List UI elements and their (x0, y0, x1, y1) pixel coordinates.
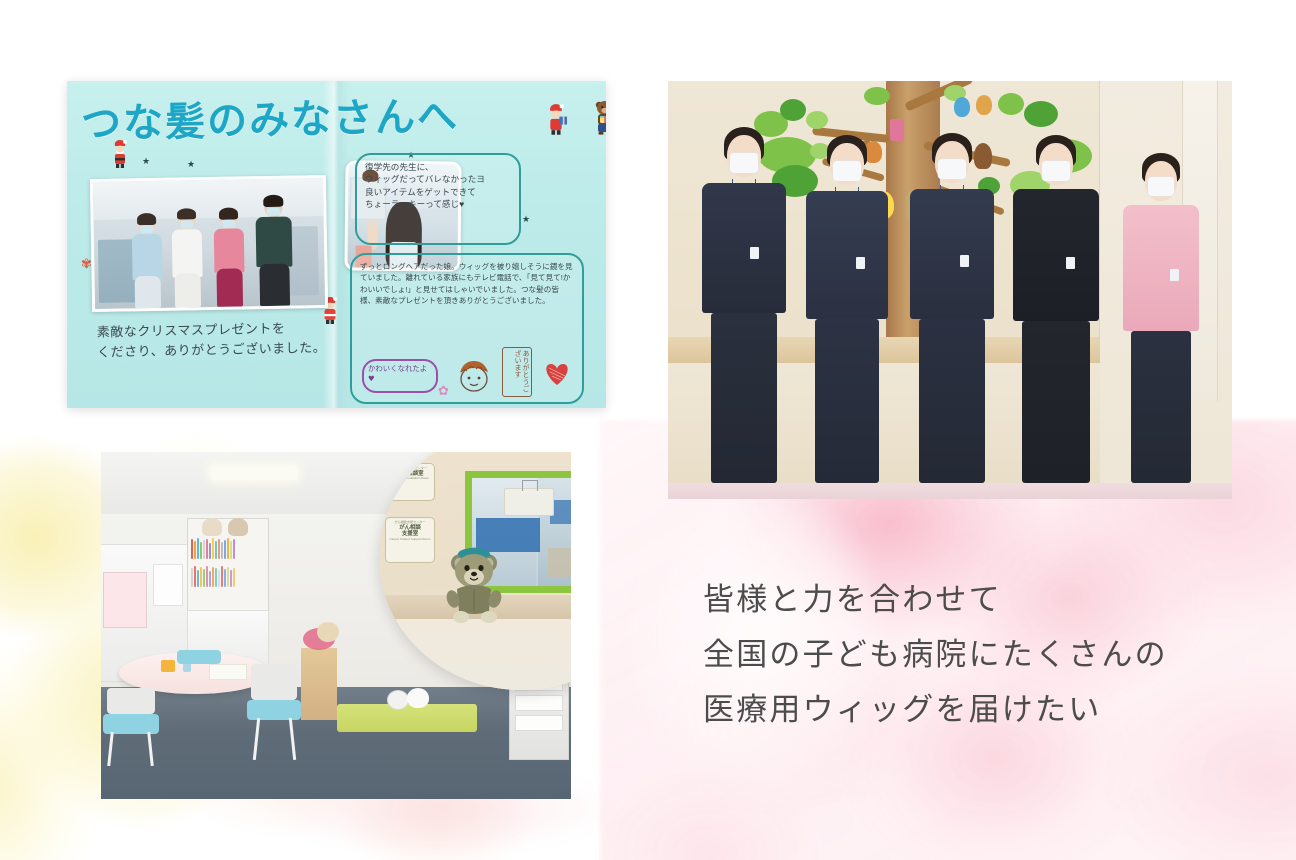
bear-sticker (592, 99, 606, 135)
star-sticker: ★ (522, 214, 530, 225)
thank-you-card-photo: つな髪のみなさんへ (67, 81, 606, 408)
sign-2-title: がん相談 支援室 (388, 525, 432, 539)
flower-doodle-icon: ✿ (438, 383, 449, 399)
chair (177, 638, 223, 678)
headline-text: 皆様と力を合わせて 全国の子ども病院にたくさんの 医療用ウィッグを届けたい (703, 573, 1263, 739)
white-plush-toy (407, 688, 429, 708)
staff-member (698, 127, 790, 483)
display-podium (301, 648, 337, 720)
floor (668, 483, 1232, 499)
card-title: つな髪のみなさんへ (80, 83, 511, 154)
consultation-room-photo: がんゲノム医療センター 看護相談室 Nursing Consultation R… (101, 452, 571, 799)
ceiling-light (211, 466, 297, 480)
play-mat (337, 704, 477, 732)
headline-line-3: 医療用ウィッグを届けたい (703, 683, 1263, 738)
headline-line-1: 皆様と力を合わせて (703, 573, 1263, 628)
book-shelf (187, 518, 269, 612)
card-thanks-text: 素敵なクリスマスプレゼントを くださり、ありがとうございました。 (97, 318, 348, 364)
headline-line-2: 全国の子ども病院にたくさんの (703, 628, 1263, 683)
card-speech-bubble-top: 復学先の先生に、 ウィッグだってバレなかったヨ 良いアイテムをゲットできて ちょ… (355, 153, 521, 245)
staff-member (906, 133, 998, 483)
sign-nursing-consultation: がんゲノム医療センター 看護相談室 Nursing Consultation R… (385, 463, 435, 501)
wall-calendar (103, 572, 147, 628)
nurses-group-photo (668, 81, 1232, 499)
tissue-box (161, 660, 175, 672)
staff-member (802, 135, 892, 483)
soccer-ball-toy (387, 690, 409, 710)
card-mini-bubble: かわいくなれたよ♥ (362, 359, 438, 393)
chair (247, 664, 303, 760)
card-speech-bubble-bottom: ずっとロングヘアだった娘。ウィッグを被り嬉しそうに鏡を見ていました。離れている家… (350, 253, 584, 404)
child-doodle-icon (452, 353, 496, 397)
below-ledge-wall (379, 619, 571, 690)
staff-member (1010, 135, 1102, 483)
sign-cancer-support: がん相談支援センター がん相談 支援室 Cancer Patient Suppo… (385, 517, 435, 563)
card-bubble-top-text: 復学先の先生に、 ウィッグだってバレなかったヨ 良いアイテムをゲットできて ちょ… (365, 161, 513, 211)
card-photo-staff-group (90, 175, 328, 312)
window-hanging-sign (504, 488, 554, 516)
star-sticker: ★ (187, 159, 195, 170)
circular-inset-photo: がんゲノム医療センター 看護相談室 Nursing Consultation R… (379, 452, 571, 690)
poster-canvas: つな髪のみなさんへ (0, 0, 1296, 860)
sign-2-english: Cancer Patient Support Room (388, 538, 432, 542)
santa-gift-sticker (545, 103, 567, 137)
santa-sticker (111, 139, 129, 169)
sign-1-english: Nursing Consultation Room (388, 477, 432, 481)
card-doodle-note: ありがとうございます (502, 347, 532, 397)
star-sticker: ★ (142, 156, 150, 167)
wall-notice (153, 564, 183, 606)
chair (103, 688, 161, 766)
staff-member (1120, 153, 1202, 483)
plush-toy (317, 622, 339, 642)
teddy-bear-plush (445, 541, 507, 625)
heart-doodle-icon (542, 359, 572, 387)
card-bubble-bottom-text: ずっとロングヘアだった娘。ウィッグを被り嬉しそうに鏡を見ていました。離れている家… (360, 261, 574, 307)
